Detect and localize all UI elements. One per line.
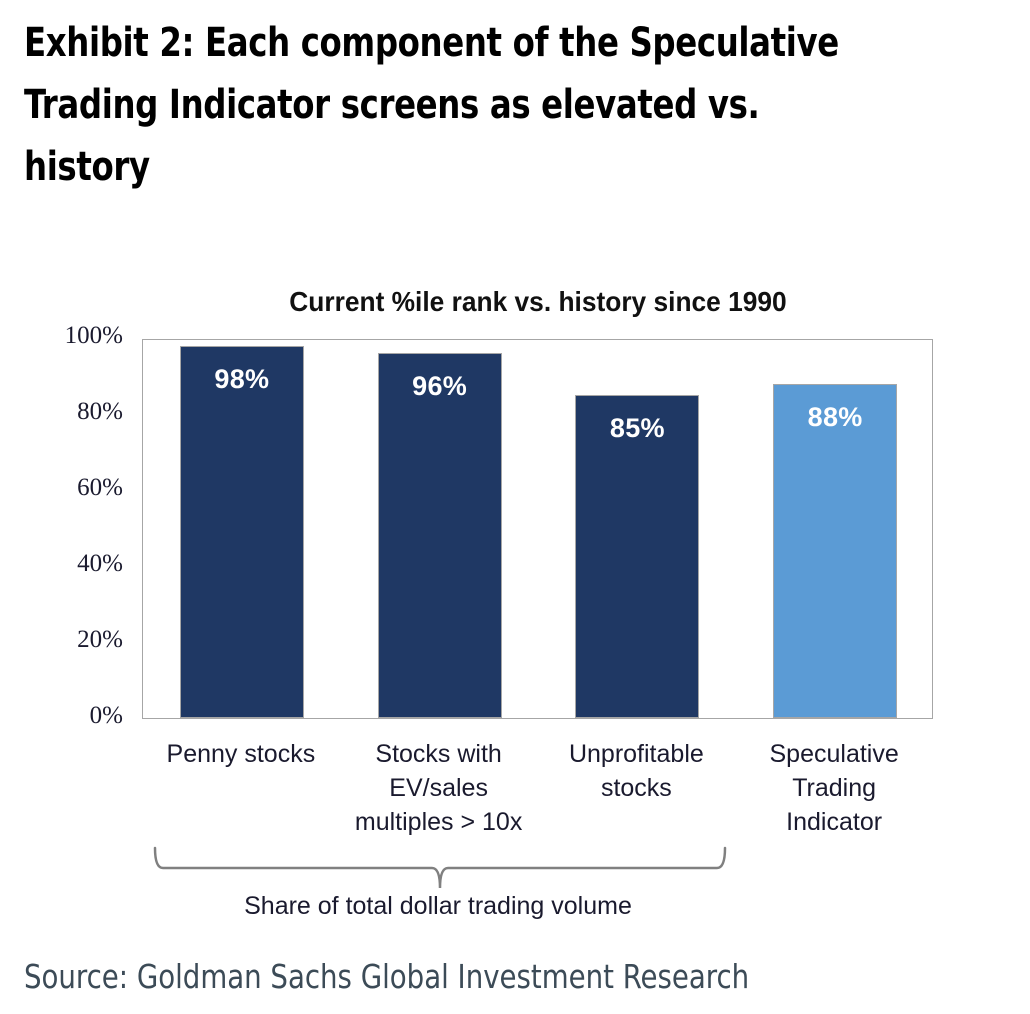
brace-label: Share of total dollar trading volume [148,892,728,921]
y-axis-tick-label: 40% [13,550,123,578]
bar[interactable]: 85% [575,395,699,718]
y-axis-tick-label: 80% [13,398,123,426]
bar[interactable]: 88% [773,384,897,718]
y-axis-tick-label: 0% [13,702,123,730]
bar[interactable]: 98% [180,346,304,718]
bar-value-label: 85% [610,413,665,444]
x-axis-category-label: SpeculativeTradingIndicator [735,737,933,839]
category-brace [150,843,730,893]
x-axis-category-label: Penny stocks [142,737,340,771]
chart-title: Current %ile rank vs. history since 1990 [166,286,910,318]
bar-value-label: 96% [412,371,467,402]
source-note: Source: Goldman Sachs Global Investment … [24,957,749,996]
y-axis-tick-label: 20% [13,626,123,654]
plot-area: 98%96%85%88% [142,339,933,719]
x-axis-category-label: Unprofitablestocks [538,737,736,805]
bar-value-label: 88% [808,402,863,433]
bar-value-label: 98% [214,364,269,395]
y-axis-tick-label: 100% [13,322,123,350]
y-axis-tick-label: 60% [13,474,123,502]
x-axis-category-label: Stocks withEV/salesmultiples > 10x [340,737,538,839]
bar-chart: Current %ile rank vs. history since 1990… [0,0,1030,1014]
bar[interactable]: 96% [378,353,502,718]
